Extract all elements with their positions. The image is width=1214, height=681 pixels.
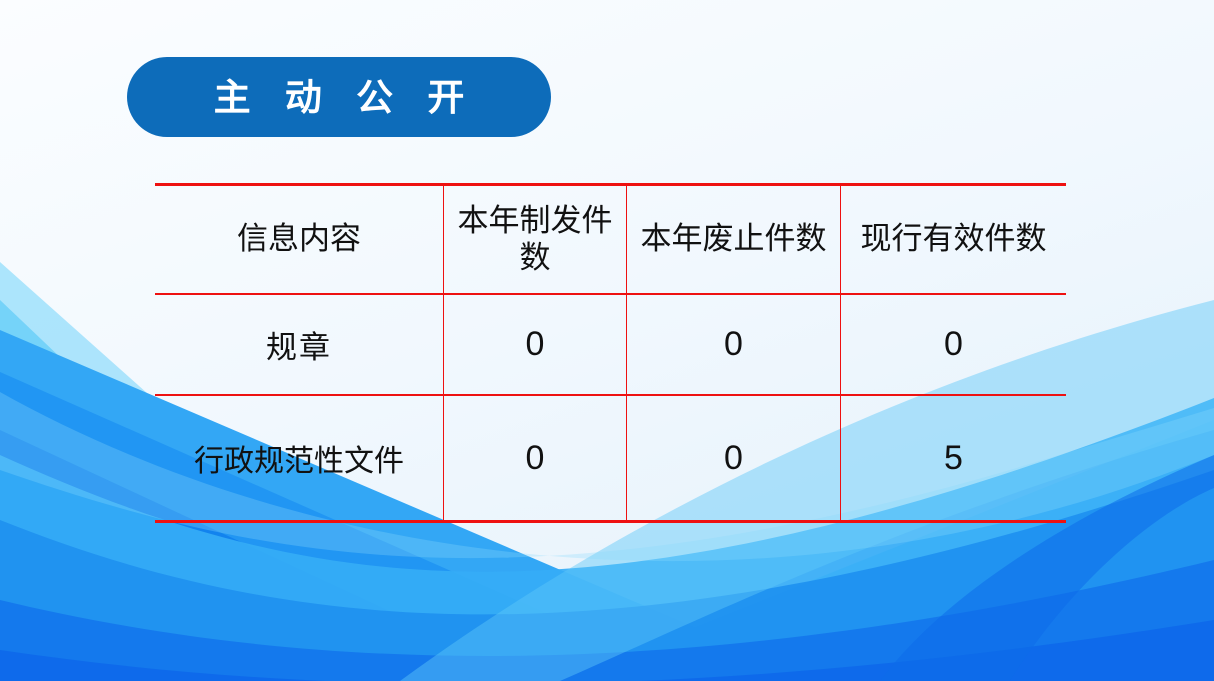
- cell-documents-abolished: 0: [627, 395, 841, 522]
- slide-title-pill: 主 动 公 开: [127, 57, 551, 137]
- row-label-administrative-normative-documents: 行政规范性文件: [155, 395, 444, 522]
- cell-regulations-made: 0: [444, 294, 627, 395]
- column-header-info-content: 信息内容: [155, 185, 444, 295]
- column-header-currently-effective: 现行有效件数: [841, 185, 1067, 295]
- slide-canvas: 主 动 公 开 信息内容 本年制发件数 本年废止件数 现行有效件数 规章 0 0…: [0, 0, 1214, 681]
- cell-regulations-abolished: 0: [627, 294, 841, 395]
- table-row: 规章 0 0 0: [155, 294, 1066, 395]
- page-title: 主 动 公 开: [202, 79, 477, 116]
- table-row: 行政规范性文件 0 0 5: [155, 395, 1066, 522]
- disclosure-statistics-table: 信息内容 本年制发件数 本年废止件数 现行有效件数 规章 0 0 0 行政规范性…: [155, 183, 1066, 523]
- cell-regulations-effective: 0: [841, 294, 1067, 395]
- column-header-abolished-this-year: 本年废止件数: [627, 185, 841, 295]
- row-label-regulations: 规章: [155, 294, 444, 395]
- column-header-made-this-year: 本年制发件数: [444, 185, 627, 295]
- cell-documents-made: 0: [444, 395, 627, 522]
- table-header-row: 信息内容 本年制发件数 本年废止件数 现行有效件数: [155, 185, 1066, 295]
- cell-documents-effective: 5: [841, 395, 1067, 522]
